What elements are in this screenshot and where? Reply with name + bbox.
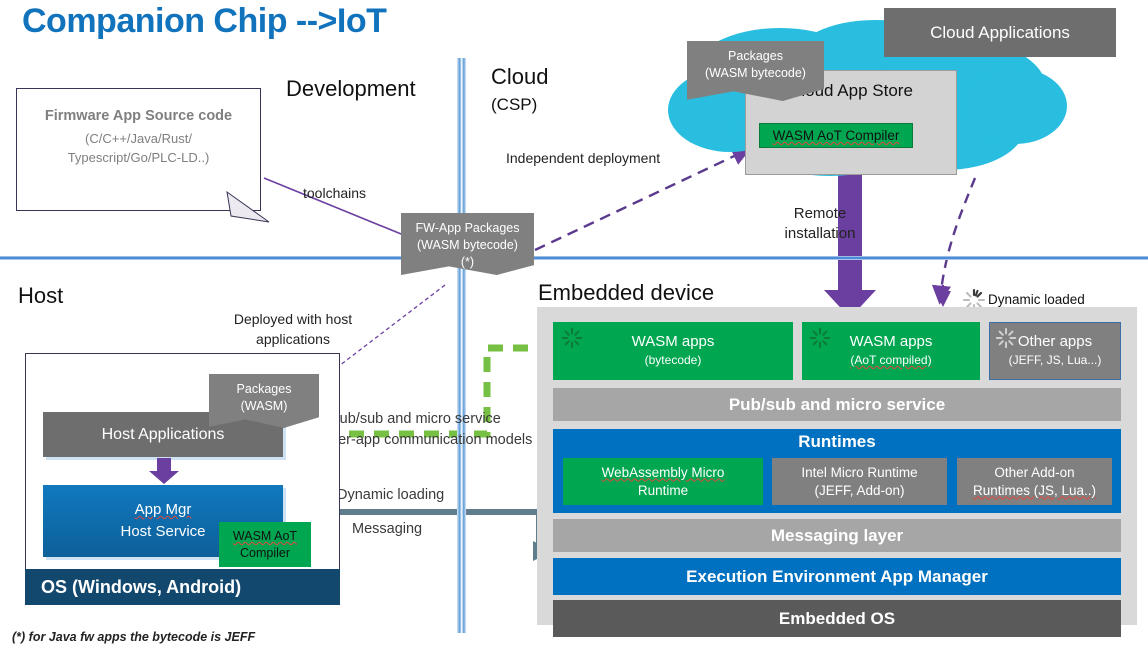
cloud-aot-compiler-box[interactable]: WASM AoT Compiler <box>759 123 913 148</box>
cloud-aot-compiler-label: WASM AoT Compiler <box>773 128 900 143</box>
embedded-messaging-layer: Messaging layer <box>553 519 1121 552</box>
footnote: (*) for Java fw apps the bytecode is JEF… <box>12 630 255 644</box>
firmware-box-tail <box>225 192 271 222</box>
host-os-box: OS (Windows, Android) <box>25 569 340 605</box>
section-label-cloud: Cloud <box>491 64 548 90</box>
runtime-2-line1: Other Add-on <box>994 464 1074 482</box>
host-aot-line2: Compiler <box>219 545 311 562</box>
embedded-device-panel: WASM apps (bytecode) WASM apps (AoT comp… <box>537 307 1137 625</box>
section-label-cloud-sub: (CSP) <box>491 95 537 115</box>
embedded-pubsub-band: Pub/sub and micro service <box>553 388 1121 421</box>
embedded-os-band: Embedded OS <box>553 600 1121 637</box>
embedded-app-manager: Execution Environment App Manager <box>553 558 1121 595</box>
arrow-dynamic-loaded-down <box>940 178 975 300</box>
callout-fw-app-packages: FW-App Packages (WASM bytecode) (*) <box>401 213 534 275</box>
runtime-intel-micro[interactable]: Intel Micro Runtime (JEFF, Add-on) <box>772 458 947 505</box>
embedded-app-0-name: WASM apps <box>632 332 715 351</box>
runtime-1-line2: (JEFF, Add-on) <box>814 482 904 500</box>
page-title: Companion Chip -->IoT <box>22 2 386 41</box>
label-messaging: Messaging <box>352 521 422 537</box>
cloud-applications-box[interactable]: Cloud Applications <box>884 8 1116 57</box>
horizontal-divider <box>0 256 1148 260</box>
callout-cloud-packages: Packages (WASM bytecode) <box>687 41 824 101</box>
runtime-0-line2: Runtime <box>638 482 688 500</box>
label-independent-deployment: Independent deployment <box>506 150 660 166</box>
firmware-source-line1: (C/C++/Java/Rust/ <box>17 129 260 148</box>
label-inter-app-communication: Inter-app communication models <box>322 432 532 448</box>
host-aot-compiler-box[interactable]: WASM AoT Compiler <box>219 522 311 567</box>
callout-fw-packages-line2: (WASM bytecode) <box>401 237 534 254</box>
runtime-webassembly-micro[interactable]: WebAssembly Micro Runtime <box>563 458 763 505</box>
section-label-embedded-device: Embedded device <box>538 280 714 306</box>
section-label-development: Development <box>286 76 416 102</box>
embedded-app-1-sub: (AoT compiled) <box>850 351 931 370</box>
callout-host-packages: Packages (WASM) <box>209 374 319 428</box>
callout-fw-packages-line1: FW-App Packages <box>401 220 534 237</box>
runtime-0-line1: WebAssembly Micro <box>602 465 725 480</box>
label-dynamic-loading: Dynamic loading <box>337 487 444 503</box>
firmware-source-heading: Firmware App Source code <box>17 108 260 124</box>
callout-cloud-packages-line2: (WASM bytecode) <box>687 65 824 82</box>
arrow-host-apps-to-appmgr <box>147 458 181 484</box>
label-dynamic-loaded-legend: Dynamic loaded <box>988 292 1085 307</box>
host-aot-line1: WASM AoT <box>233 528 297 545</box>
callout-host-packages-line2: (WASM) <box>209 398 319 415</box>
slide-canvas: Companion Chip -->IoT Development Cloud … <box>0 0 1148 653</box>
section-label-host: Host <box>18 283 63 309</box>
embedded-app-2-name: Other apps <box>1018 332 1092 351</box>
label-remote-installation: Remote installation <box>775 204 865 244</box>
spark-icon-app0 <box>561 327 583 349</box>
runtime-other-addon[interactable]: Other Add-on Runtimes (JS, Lua..) <box>957 458 1112 505</box>
label-toolchains: toolchains <box>303 185 366 201</box>
callout-host-packages-line1: Packages <box>209 381 319 398</box>
runtime-1-line1: Intel Micro Runtime <box>801 464 917 482</box>
spark-icon-app2 <box>995 327 1017 349</box>
callout-fw-packages-line3: (*) <box>401 254 534 271</box>
embedded-app-2-sub: (JEFF, JS, Lua...) <box>1009 351 1102 370</box>
embedded-runtimes-title: Runtimes <box>553 429 1121 452</box>
callout-cloud-packages-line1: Packages <box>687 48 824 65</box>
firmware-source-line2: Typescript/Go/PLC-LD..) <box>17 148 260 167</box>
embedded-app-wasm-bytecode[interactable]: WASM apps (bytecode) <box>553 322 793 380</box>
spark-icon-app1 <box>809 327 831 349</box>
arrow-remote-installation <box>824 170 876 318</box>
label-deployed-with-host: Deployed with host applications <box>218 309 368 349</box>
embedded-runtimes-group: Runtimes WebAssembly Micro Runtime Intel… <box>553 429 1121 513</box>
embedded-app-1-name: WASM apps <box>850 332 933 351</box>
runtime-2-line2: Runtimes (JS, Lua..) <box>973 483 1096 498</box>
vertical-divider <box>457 58 466 633</box>
app-mgr-line1: App Mgr <box>135 499 192 521</box>
label-pubsub-micro-service: Pub/sub and micro service <box>330 411 501 427</box>
embedded-app-0-sub: (bytecode) <box>645 351 702 370</box>
